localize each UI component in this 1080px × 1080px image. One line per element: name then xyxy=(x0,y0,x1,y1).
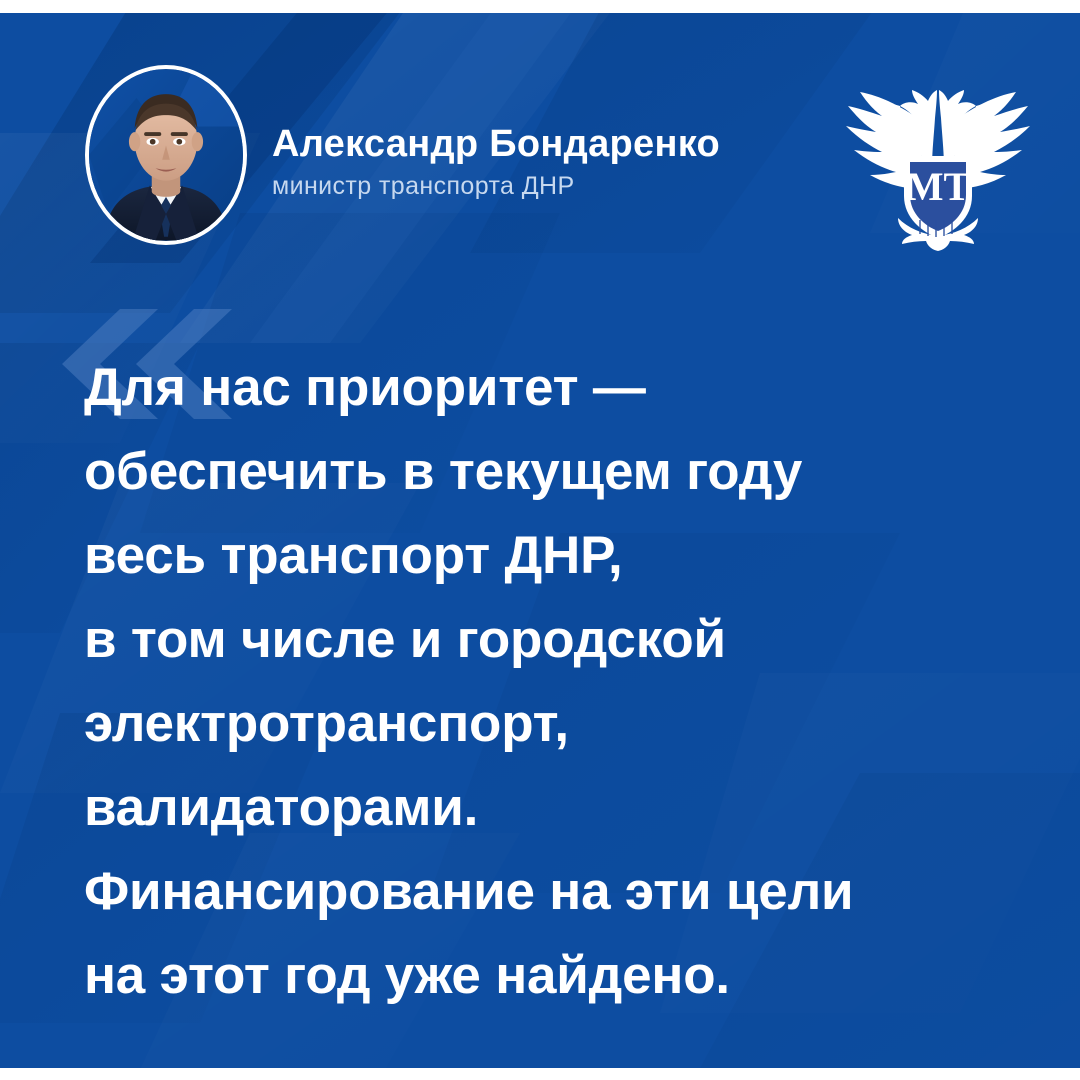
quote-line: валидаторами. xyxy=(84,766,1034,850)
quote-line: весь транспорт ДНР, xyxy=(84,514,1034,598)
avatar xyxy=(85,65,247,245)
quote-line: на этот год уже найдено. xyxy=(84,934,1034,1018)
quote-line: обеспечить в текущем году xyxy=(84,430,1034,514)
emblem-shield-text: МТ xyxy=(906,164,971,209)
name-block: Александр Бондаренко министр транспорта … xyxy=(272,123,832,200)
quote-line: Для нас приоритет — xyxy=(84,346,1034,430)
quote-card: Александр Бондаренко министр транспорта … xyxy=(0,13,1080,1068)
double-headed-eagle-emblem-icon: МТ xyxy=(838,68,1038,253)
quote-line: в том числе и городской xyxy=(84,598,1034,682)
person-role: министр транспорта ДНР xyxy=(272,172,832,201)
quote-line: Финансирование на эти цели xyxy=(84,850,1034,934)
person-name: Александр Бондаренко xyxy=(272,123,832,167)
header: Александр Бондаренко министр транспорта … xyxy=(0,13,1080,263)
quote-text: Для нас приоритет — обеспечить в текущем… xyxy=(84,346,1034,1018)
quote-line: электротранспорт, xyxy=(84,682,1034,766)
